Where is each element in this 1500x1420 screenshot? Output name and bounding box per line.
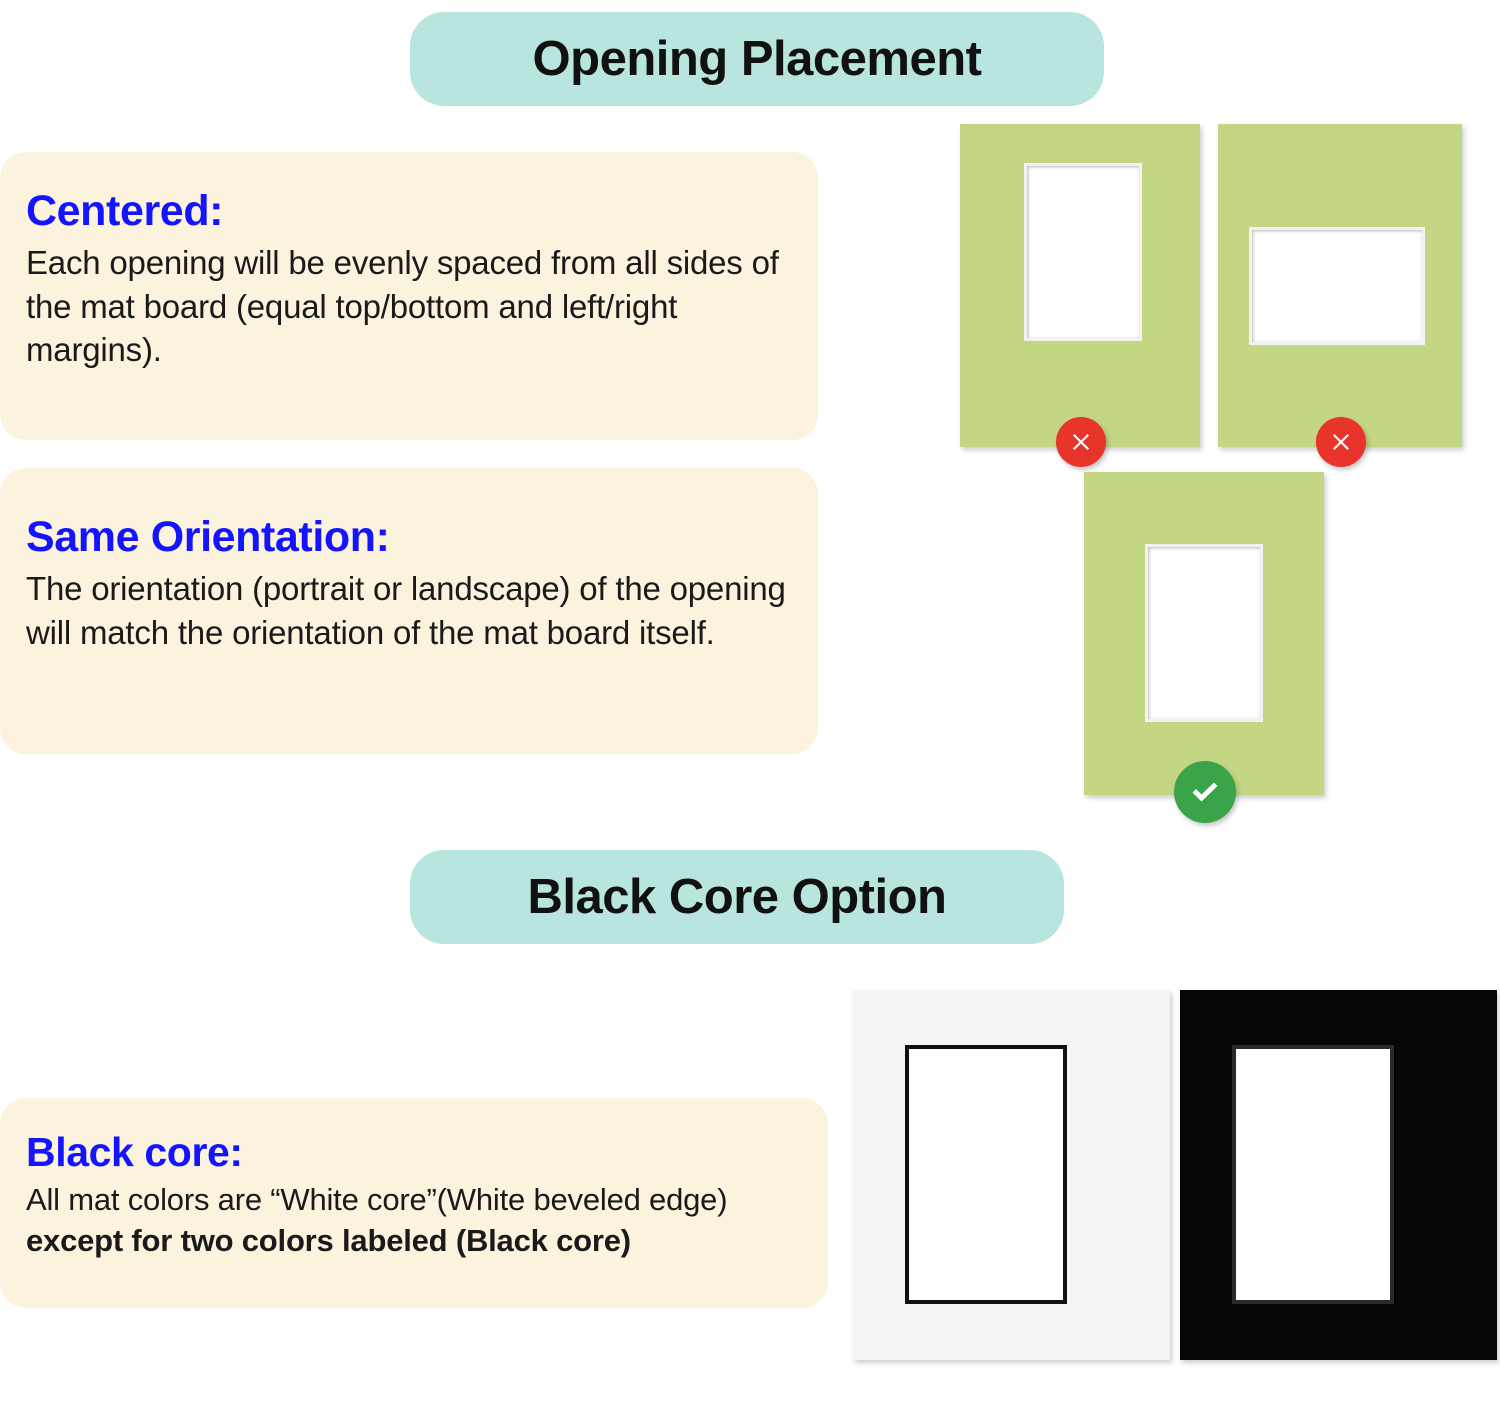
mat-opening-black-core-bevel <box>1232 1045 1394 1304</box>
infographic-canvas: Opening Placement Centered: Each opening… <box>0 0 1500 1420</box>
card-black-core-heading: Black core: <box>26 1128 802 1176</box>
red-x-icon <box>1316 417 1366 467</box>
card-black-core-body-line-1: All mat colors are “White core”(White be… <box>26 1180 802 1220</box>
mat-opening-portrait-centered <box>1145 544 1263 722</box>
mat-board-example-3 <box>1084 472 1324 795</box>
card-same-orientation-heading: Same Orientation: <box>26 512 792 563</box>
mat-board-white-black-core <box>853 990 1170 1360</box>
mat-opening-black-core-bevel <box>905 1045 1067 1304</box>
card-centered: Centered: Each opening will be evenly sp… <box>0 152 818 440</box>
section-header-opening-placement: Opening Placement <box>410 12 1104 106</box>
mat-board-black-black-core <box>1180 990 1497 1360</box>
card-black-core-body-line-2: except for two colors labeled (Black cor… <box>26 1221 802 1261</box>
card-same-orientation-body: The orientation (portrait or landscape) … <box>26 567 792 655</box>
mat-opening-portrait-offcenter <box>1024 163 1142 341</box>
card-centered-body: Each opening will be evenly spaced from … <box>26 241 792 373</box>
mat-board-example-2 <box>1218 124 1462 447</box>
mat-board-example-1 <box>960 124 1200 447</box>
red-x-icon <box>1056 417 1106 467</box>
mat-opening-landscape-offcenter <box>1249 227 1425 345</box>
section-header-black-core-option: Black Core Option <box>410 850 1064 944</box>
green-check-icon <box>1174 761 1236 823</box>
card-same-orientation: Same Orientation: The orientation (portr… <box>0 468 818 754</box>
card-centered-heading: Centered: <box>26 186 792 237</box>
card-black-core: Black core: All mat colors are “White co… <box>0 1098 828 1308</box>
